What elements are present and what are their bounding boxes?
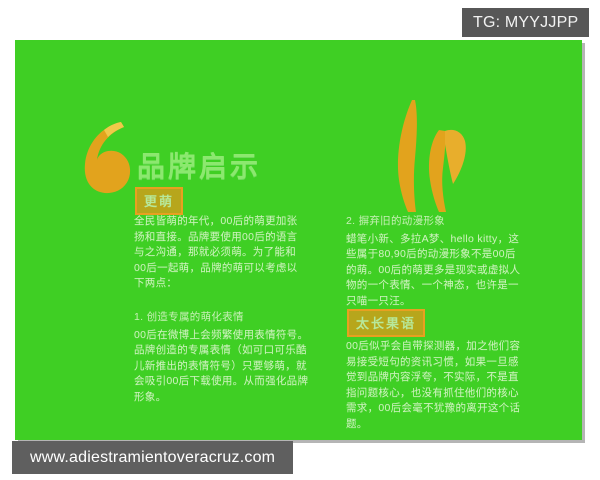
- page-title: 品牌启示: [137, 145, 261, 185]
- badge-right: 太长果语: [347, 309, 425, 337]
- paragraph-right-bottom: 00后似乎会自带探测器，加之他们容易接受短句的资讯习惯，如果一旦感觉到品牌内容浮…: [346, 339, 524, 432]
- telegram-watermark-badge: TG: MYYJJPP: [462, 8, 589, 37]
- text-column-right-bottom: 00后似乎会自带探测器，加之他们容易接受短句的资讯习惯，如果一旦感觉到品牌内容浮…: [346, 339, 524, 432]
- text-column-left-top: 全民皆萌的年代，00后的萌更加张扬和直接。品牌要使用00后的语言与之沟通，那就必…: [134, 214, 306, 292]
- quotation-mark-icon: [77, 118, 139, 196]
- subheading-point-one: 1. 创造专属的萌化表情: [134, 310, 310, 326]
- paragraph-intro: 全民皆萌的年代，00后的萌更加张扬和直接。品牌要使用00后的语言与之沟通，那就必…: [134, 214, 306, 292]
- subheading-point-two: 2. 摒弃旧的动漫形象: [346, 214, 524, 230]
- paragraph-point-two: 蜡笔小新、多拉A梦、hello kitty，这些属于80,90后的动漫形象不是0…: [346, 232, 524, 310]
- rabbit-ears-icon: [367, 98, 485, 213]
- website-url-bar: www.adiestramientoveracruz.com: [12, 441, 293, 474]
- paragraph-point-one: 00后在微博上会频繁使用表情符号。品牌创造的专属表情（如可口可乐酷儿新推出的表情…: [134, 328, 310, 406]
- text-column-right-top: 2. 摒弃旧的动漫形象 蜡笔小新、多拉A梦、hello kitty，这些属于80…: [346, 214, 524, 309]
- slide-canvas: 品牌启示 更萌 太长果语 全民皆萌的年代，00后的萌更加张扬和直接。品牌要使用0…: [15, 40, 582, 440]
- text-column-left-bottom: 1. 创造专属的萌化表情 00后在微博上会频繁使用表情符号。品牌创造的专属表情（…: [134, 310, 310, 405]
- badge-left: 更萌: [135, 187, 183, 215]
